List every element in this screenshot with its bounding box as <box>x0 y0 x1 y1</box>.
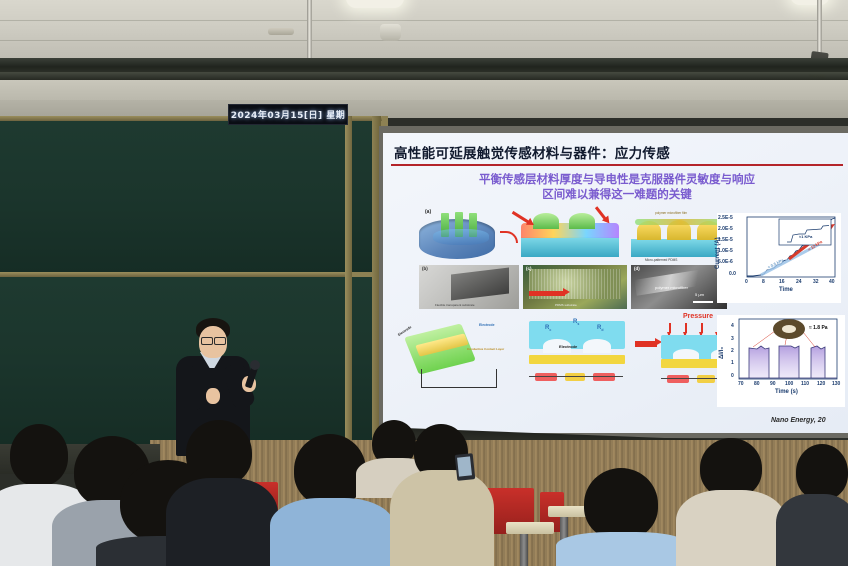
device-circuit-wire <box>421 369 497 388</box>
presenter-glasses-right <box>214 337 226 345</box>
figure-c-caption: PDMS substrate <box>555 303 577 307</box>
chart-current-vs-time: 2.5E-5 2.0E-5 1.5E-5 1.0E-5 5.0E-6 0.0 0… <box>717 213 841 303</box>
ceiling-light-center <box>346 0 404 8</box>
chart2-xtick-0: 70 <box>738 381 744 387</box>
pressure-label: Pressure <box>683 313 713 320</box>
xsection-rs-label: Rs <box>573 319 579 326</box>
panel-label-c: (c) <box>526 266 532 271</box>
desk-top-2 <box>548 506 588 517</box>
figure-d-arrow-label: polymer microfiber <box>655 285 688 290</box>
slide-title: 高性能可延展触觉传感材料与器件：应力传感 <box>394 142 670 162</box>
chart2-xtick-5: 120 <box>817 381 825 387</box>
figure-c-arrow <box>529 291 565 296</box>
blackboard-upper <box>0 120 378 272</box>
audience-body-5 <box>270 498 394 566</box>
slide-subtitle-line2: 区间难以兼得这一难题的关键 <box>421 188 813 202</box>
chart2-ytick-0: 0 <box>731 373 734 379</box>
chart1-xtick-2: 16 <box>779 279 785 285</box>
audience-head-1 <box>10 424 68 486</box>
chart2-ytick-3: 3 <box>731 336 734 342</box>
figure-d-scale-label: 5 μm <box>695 292 704 297</box>
panel-label-b: (b) <box>422 266 428 271</box>
ceiling-beam-secondary <box>0 72 848 80</box>
chart2-xtick-1: 80 <box>754 381 760 387</box>
audience-head-7 <box>584 468 658 540</box>
chart1-xlabel: Time <box>779 287 793 293</box>
chart1-xtick-1: 8 <box>762 279 765 285</box>
slide-citation: Nano Energy, 20 <box>771 417 826 424</box>
ceiling-vent <box>268 28 294 35</box>
audience-head-8 <box>700 438 762 498</box>
upper-wall <box>0 80 848 102</box>
phone-screen[interactable] <box>457 456 472 476</box>
chart1-ytick-4: 2.0E-5 <box>718 226 733 232</box>
chart2-ytick-2: 2 <box>731 348 734 354</box>
title-underline <box>391 164 843 166</box>
audience-body-7 <box>556 532 690 566</box>
desk-top-1 <box>506 522 554 534</box>
chart2-annotation: ≈ 1.8 Pa <box>809 325 828 331</box>
device-contact-layer-label: Conductive Contact Layer <box>467 347 504 351</box>
chart2-xtick-4: 110 <box>801 381 809 387</box>
chart1-xtick-4: 32 <box>813 279 819 285</box>
chart1-ytick-5: 2.5E-5 <box>718 215 733 221</box>
audience-head-9 <box>796 444 848 500</box>
chart1-ytick-0: 0.0 <box>729 271 736 277</box>
presenter-hand-left <box>206 388 220 404</box>
desk-leg-1 <box>520 534 528 566</box>
chart2-ylabel: ΔI/I₀ <box>719 347 725 359</box>
chart1-xtick-0: 0 <box>745 279 748 285</box>
panel-label-a: (a) <box>425 209 431 215</box>
audience-body-8 <box>676 490 786 566</box>
chart-delta-i-vs-time: 4 3 2 1 0 70 80 90 100 110 120 130 Time … <box>717 315 845 407</box>
presenter-glasses-left <box>201 337 213 345</box>
blackboard-rail-right <box>345 116 352 446</box>
chart1-xtick-5: 40 <box>829 279 835 285</box>
smoke-detector-icon <box>380 24 401 41</box>
device-electrode-label-2: Electrode <box>479 323 494 327</box>
figure-b-caption: Flexible transparent substrate <box>435 303 475 307</box>
xsection-rc-label: Rc <box>545 325 551 332</box>
audience-body-photographer <box>390 470 494 566</box>
figure-d-scalebar <box>693 301 713 303</box>
figure-a-right-slab <box>631 239 727 257</box>
chart1-inset-annotation: ≈1 KPa <box>799 234 812 239</box>
chart2-ytick-1: 1 <box>731 360 734 366</box>
ceiling <box>0 0 848 64</box>
chart1-xtick-3: 24 <box>796 279 802 285</box>
lecture-hall-photo: 2024年03月15[日] 星期 高性能可延展触觉传感材料与器件：应力传感 平衡… <box>0 0 848 566</box>
audience-head-4 <box>186 420 252 486</box>
pressure-transition-arrow <box>635 341 657 347</box>
audience-body-9 <box>776 494 848 566</box>
slide-subtitle-line1: 平衡传感层材料厚度与导电性是克服器件灵敏度与响应 <box>421 173 813 187</box>
chart2-xtick-6: 130 <box>832 381 840 387</box>
figure-a-middle-slab <box>521 237 619 257</box>
chart1-ylabel: Current (A) <box>715 237 721 269</box>
chart2-ytick-4: 4 <box>731 323 734 329</box>
panel-label-d: (d) <box>634 266 640 271</box>
chart2-xtick-3: 100 <box>785 381 793 387</box>
figure-a-right-caption: polymer microfiber film <box>655 211 687 215</box>
microphone-head <box>250 360 260 370</box>
xsection-electrode-label: Electrode <box>559 344 577 349</box>
chart2-xlabel: Time (s) <box>775 389 798 395</box>
hanging-rod-right <box>817 0 822 58</box>
led-date-sign: 2024年03月15[日] 星期 <box>228 104 348 125</box>
presentation-slide: 高性能可延展触觉传感材料与器件：应力传感 平衡传感层材料厚度与导电性是克服器件灵… <box>383 133 848 433</box>
led-date-text: 2024年03月15[日] 星期 <box>231 108 345 121</box>
xsection-rd-label: Rd <box>597 325 603 332</box>
chart2-xtick-2: 90 <box>770 381 776 387</box>
process-arrow-1 <box>500 231 518 243</box>
figure-a-bottom-caption: Micro-patterned PDMS <box>645 258 677 262</box>
audience-body-4 <box>166 478 278 566</box>
xsection-electrode-layer <box>529 355 625 364</box>
